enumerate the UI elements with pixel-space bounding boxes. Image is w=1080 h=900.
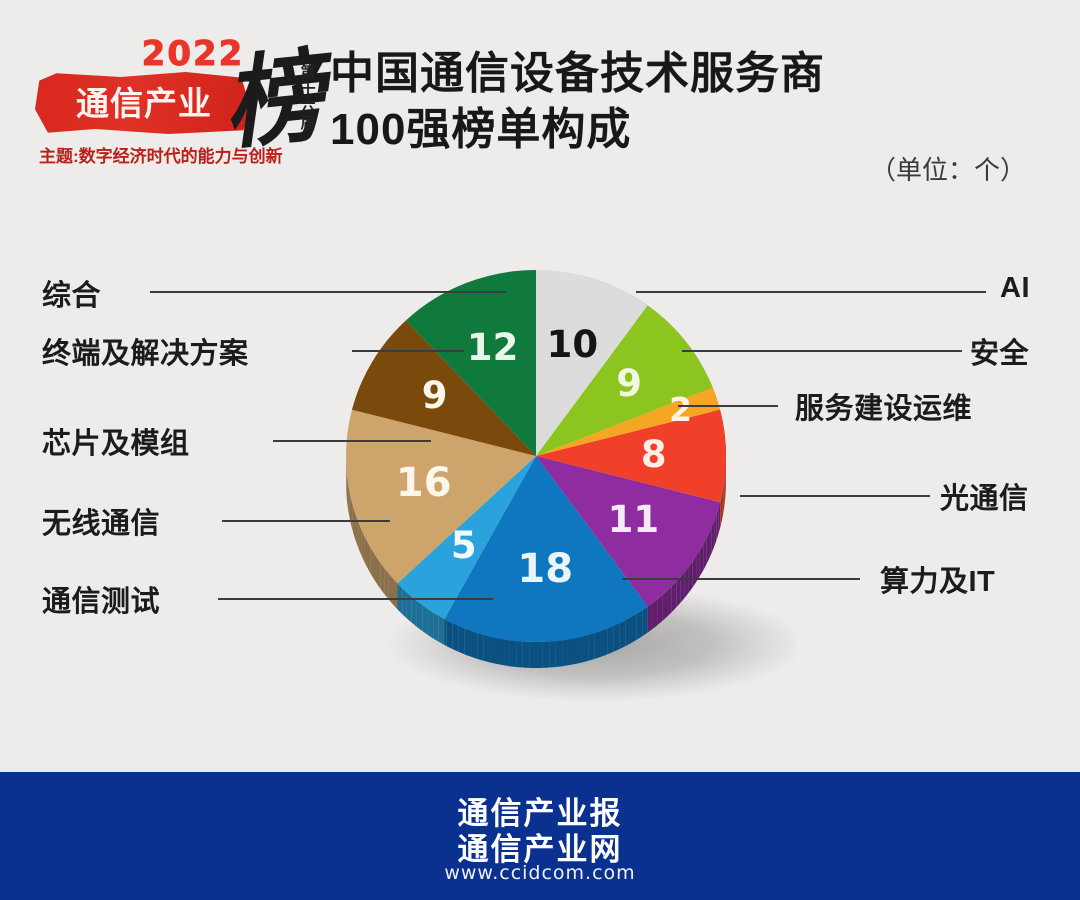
leader-line-anquan [682, 350, 962, 352]
pie-slice-depth [444, 619, 446, 646]
pie-slice-depth [613, 623, 619, 652]
pie-slice-depth [477, 633, 483, 661]
pie-slice-depth [484, 635, 490, 663]
pie-slice-depth [471, 631, 477, 659]
label-fuwu: 服务建设运维 [795, 385, 972, 427]
label-guangtongxin: 光通信 [940, 475, 1029, 517]
pie-slice-depth [652, 599, 657, 629]
pie-slice-depth [595, 631, 601, 659]
pie-slice-depth [556, 640, 563, 667]
pie-slice-depth [662, 591, 667, 621]
pie-slice-depth [720, 500, 721, 529]
leader-line-ceshi [218, 598, 493, 600]
pie-slice-depth [447, 620, 453, 649]
infographic-page: 2022 通信产业 榜 第十六届 主题:数字经济时代的能力与创新 中国通信设备技… [0, 0, 1080, 900]
pie-slice-depth [657, 595, 662, 625]
pie-svg [296, 224, 796, 724]
pie-slice-depth [453, 623, 459, 652]
pie-slice-depth [516, 641, 523, 668]
pie-slice-depth [693, 556, 697, 587]
pie-slice-depth [667, 586, 672, 617]
label-ceshi: 通信测试 [42, 578, 160, 620]
pie-slice-depth [439, 616, 445, 645]
pie-slice-depth [523, 642, 530, 668]
pie-slice-depth [496, 638, 503, 665]
pie-slice-depth [607, 626, 613, 655]
pie-chart: 109281118516912 [296, 224, 796, 724]
pie-slice-depth [582, 635, 588, 663]
pie-slice-depth [417, 601, 422, 631]
label-anquan: 安全 [970, 330, 1029, 372]
pie-slice-depth [569, 638, 576, 665]
pie-slice-depth [625, 617, 631, 646]
footer-url: www.ccidcom.com [0, 862, 1080, 884]
label-zonghe: 综合 [42, 272, 101, 314]
pie-slice-depth [588, 633, 594, 661]
pie-slice-depth [412, 597, 417, 627]
pie-slice-depth [672, 581, 677, 612]
leader-line-suanli [622, 578, 860, 580]
label-suanli: 算力及IT [880, 558, 995, 600]
pie-slice-depth [529, 642, 536, 668]
pie-slice-depth [685, 566, 689, 597]
pie-slice-depth [373, 552, 377, 583]
pie-slice-depth [422, 605, 427, 635]
pie-slice-depth [631, 614, 637, 643]
pie-slice-depth [377, 558, 381, 589]
logo-theme: 主题:数字经济时代的能力与创新 [39, 142, 311, 167]
pie-slice-depth [459, 626, 465, 655]
pie-slice-depth [393, 579, 397, 610]
leader-line-xinpian [273, 440, 431, 442]
pie-slice-depth [465, 628, 471, 656]
pie-slice-depth [402, 588, 407, 618]
leader-line-zonghe [150, 291, 506, 293]
pie-slice-depth [576, 636, 582, 663]
leader-line-fuwu [678, 405, 778, 407]
label-ai: AI [1000, 272, 1030, 305]
pie-slice-depth [676, 577, 680, 608]
pie-slice-depth [681, 572, 685, 603]
pie-slice-depth [689, 561, 693, 592]
pie-slices [346, 270, 726, 642]
pie-slice-depth [549, 641, 556, 668]
unit-note: （单位：个） [870, 150, 1026, 187]
pie-slice-depth [510, 640, 517, 667]
logo-brand-text: 通信产业 [49, 82, 239, 126]
leader-line-zhongduan [352, 350, 464, 352]
header: 2022 通信产业 榜 第十六届 主题:数字经济时代的能力与创新 中国通信设备技… [0, 0, 1080, 210]
pie-slice-depth [562, 639, 569, 666]
pie-slice-depth [601, 628, 607, 656]
pie-slice-depth [543, 642, 550, 668]
pie-slice-depth [433, 612, 439, 641]
award-logo: 2022 通信产业 榜 第十六届 主题:数字经济时代的能力与创新 [35, 34, 310, 184]
pie-slice-depth [536, 642, 543, 668]
leader-line-wuxian [222, 520, 390, 522]
pie-slice-depth [490, 636, 496, 663]
pie-slice-depth [619, 620, 625, 649]
pie-slice-depth [389, 574, 393, 605]
pie-slice-depth [428, 609, 434, 639]
pie-slice-depth [642, 606, 647, 636]
label-zhongduan: 终端及解决方案 [42, 330, 249, 372]
label-wuxian: 无线通信 [42, 500, 160, 542]
pie-slice-depth [648, 603, 652, 632]
title-line-1: 中国通信设备技术服务商 [330, 46, 980, 102]
pie-slice-depth [381, 563, 385, 594]
page-title: 中国通信设备技术服务商 100强榜单构成 [330, 46, 980, 158]
pie-slice-depth [503, 639, 510, 666]
label-xinpian: 芯片及模组 [42, 420, 190, 462]
logo-edition: 第十六届 [297, 64, 319, 132]
leader-line-guangtongxin [740, 495, 930, 497]
pie-slice-depth [385, 568, 389, 599]
leader-line-ai [636, 291, 986, 293]
pie-slice-depth [637, 610, 643, 640]
chart-area: 109281118516912 综合 终端及解决方案 芯片及模组 无线通信 通信… [0, 210, 1080, 770]
